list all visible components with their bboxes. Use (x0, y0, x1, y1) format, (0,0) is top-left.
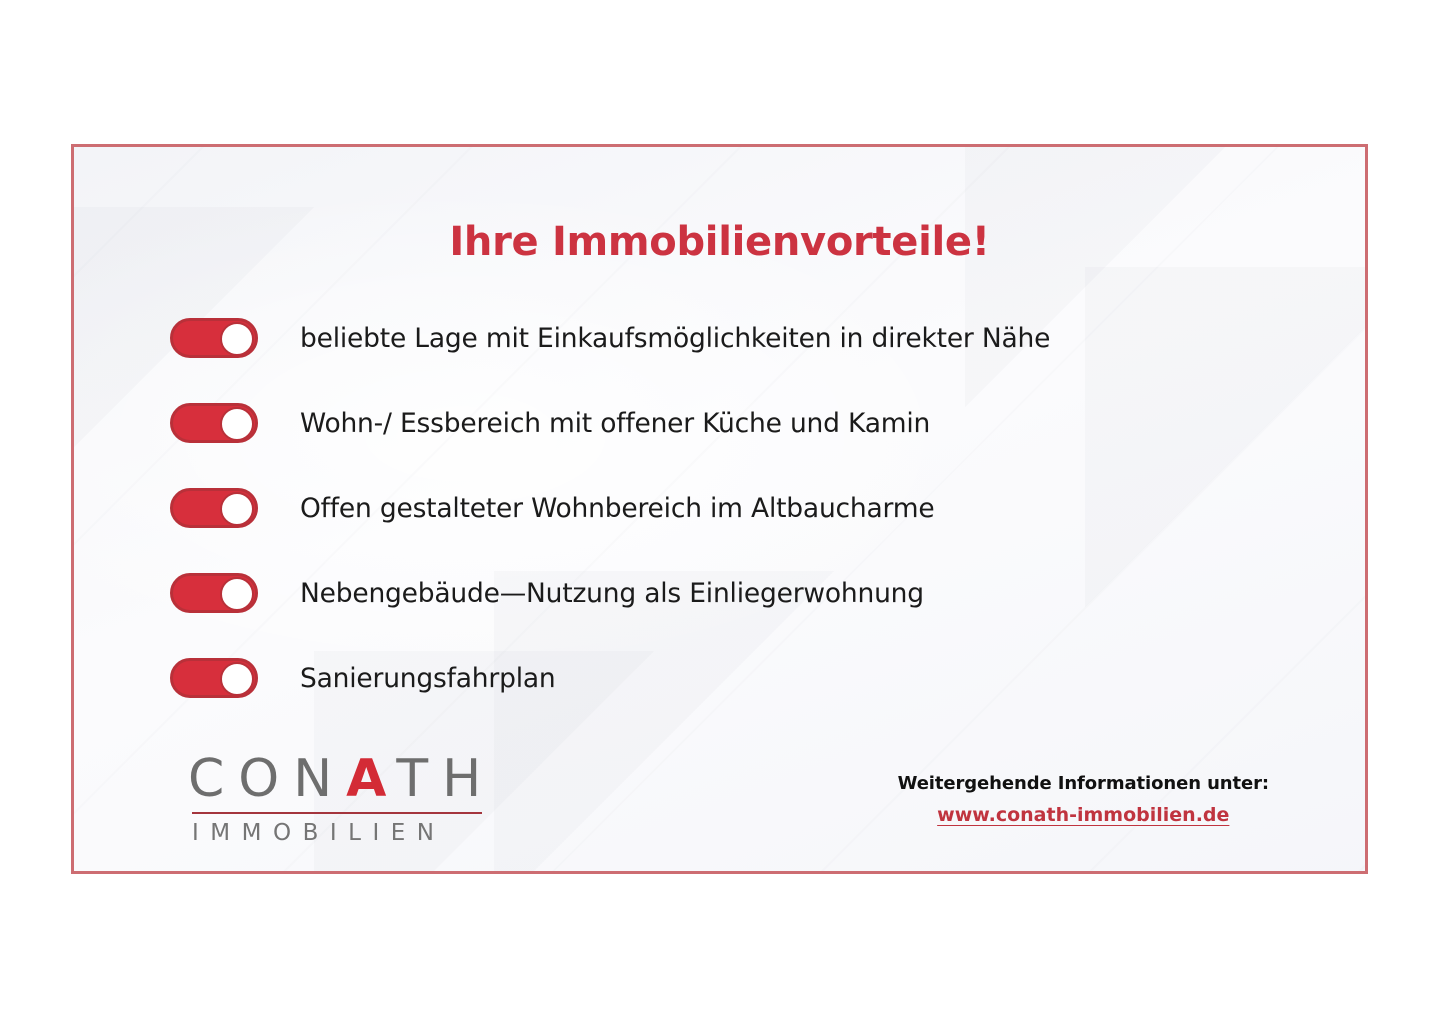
toggle-knob-icon (220, 492, 254, 526)
page-root: Ihre Immobilienvorteile! beliebte Lage m… (0, 0, 1440, 1018)
toggle-knob-icon (220, 662, 254, 696)
list-item: Wohn-/ Essbereich mit offener Küche und … (170, 399, 1050, 447)
chevron-watermark-icon (1085, 267, 1368, 607)
list-item: Offen gestalteter Wohnbereich im Altbauc… (170, 484, 1050, 532)
logo-wordmark: CONATH (188, 753, 495, 805)
list-item: Nebengebäude—Nutzung als Einliegerwohnun… (170, 569, 1050, 617)
logo-accent-letter-icon: A (346, 749, 396, 809)
page-title: Ihre Immobilienvorteile! (74, 219, 1365, 265)
feature-label: Wohn-/ Essbereich mit offener Küche und … (300, 408, 930, 439)
toggle-switch[interactable] (170, 658, 258, 698)
toggle-switch[interactable] (170, 403, 258, 443)
logo-divider (192, 812, 482, 814)
website-link[interactable]: www.conath-immobilien.de (937, 804, 1229, 826)
contact-heading: Weitergehende Informationen unter: (898, 773, 1269, 794)
toggle-knob-icon (220, 407, 254, 441)
contact-block: Weitergehende Informationen unter: www.c… (898, 773, 1269, 826)
logo-word-part2: TH (396, 749, 495, 809)
feature-label: beliebte Lage mit Einkaufsmöglichkeiten … (300, 323, 1050, 354)
feature-label: Sanierungsfahrplan (300, 663, 556, 694)
list-item: beliebte Lage mit Einkaufsmöglichkeiten … (170, 314, 1050, 362)
toggle-knob-icon (220, 577, 254, 611)
toggle-switch[interactable] (170, 488, 258, 528)
feature-list: beliebte Lage mit Einkaufsmöglichkeiten … (170, 314, 1050, 739)
company-logo: CONATH IMMOBILIEN (188, 753, 495, 846)
info-card: Ihre Immobilienvorteile! beliebte Lage m… (71, 144, 1368, 874)
feature-label: Offen gestalteter Wohnbereich im Altbauc… (300, 493, 935, 524)
logo-subtitle: IMMOBILIEN (188, 820, 495, 846)
toggle-switch[interactable] (170, 573, 258, 613)
feature-label: Nebengebäude—Nutzung als Einliegerwohnun… (300, 578, 924, 609)
toggle-knob-icon (220, 322, 254, 356)
list-item: Sanierungsfahrplan (170, 654, 1050, 702)
logo-word-part1: CON (188, 749, 346, 809)
toggle-switch[interactable] (170, 318, 258, 358)
